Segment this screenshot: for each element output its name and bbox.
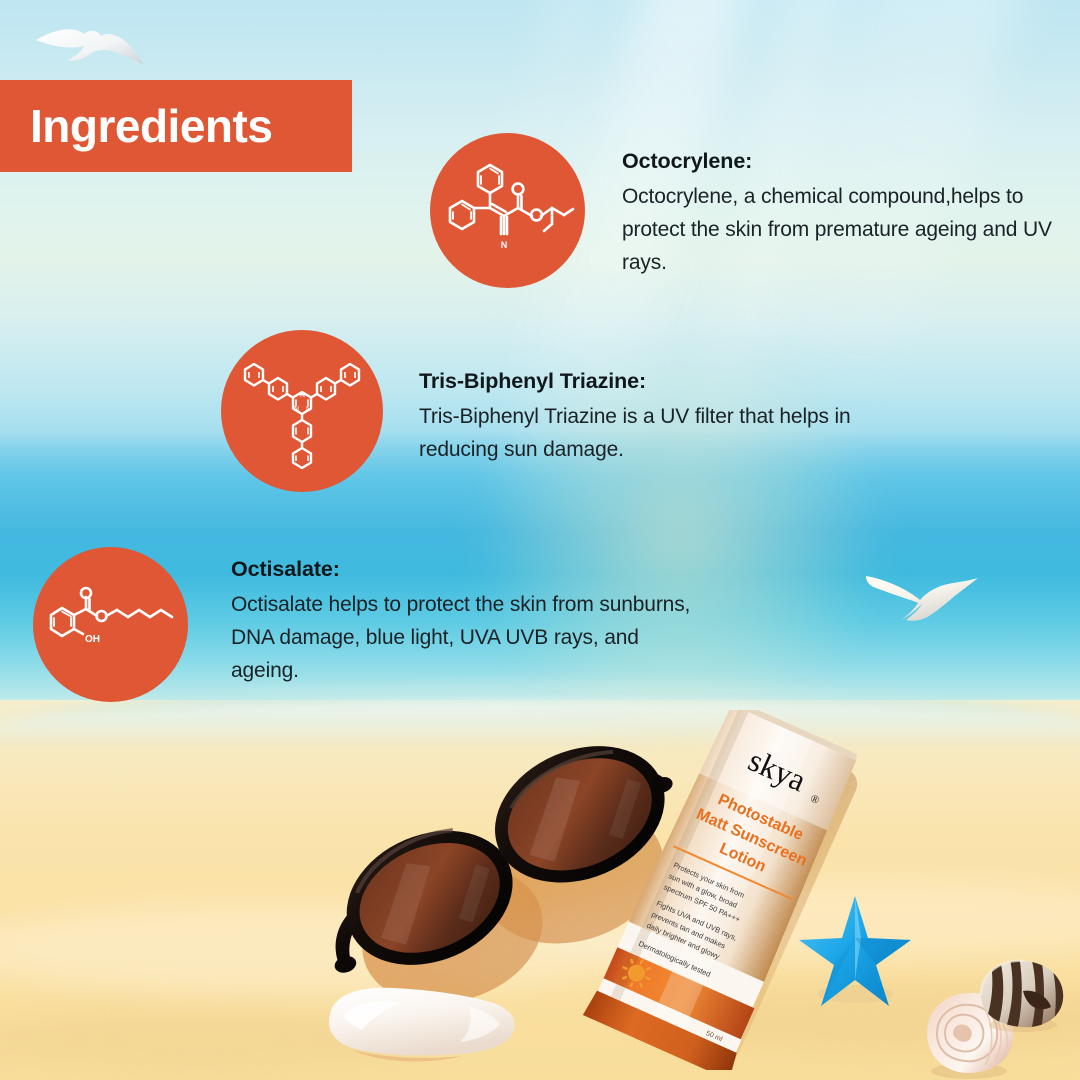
striped-seashell-icon <box>975 955 1070 1033</box>
ingredient-description: Octisalate helps to protect the skin fro… <box>231 588 701 688</box>
octocrylene-molecule-icon: N <box>430 133 585 288</box>
ingredient-name: Octocrylene: <box>622 148 1052 176</box>
ingredient-name: Octisalate: <box>231 556 701 584</box>
tris-biphenyl-triazine-molecule-icon: N N N <box>221 330 383 492</box>
header-banner: Ingredients <box>0 80 352 172</box>
seagull-icon <box>862 560 1000 638</box>
ingredient-text-octocrylene: Octocrylene: Octocrylene, a chemical com… <box>622 148 1052 279</box>
starfish-icon <box>795 890 915 1010</box>
seagull-icon <box>30 18 150 78</box>
page-title: Ingredients <box>30 103 272 149</box>
ingredients-poster: N Octocrylene: Octocrylene, a chemical c… <box>0 0 1080 1080</box>
cream-smear <box>322 972 522 1080</box>
svg-text:N: N <box>501 240 508 250</box>
octisalate-molecule-icon: OH <box>33 547 188 702</box>
svg-text:N: N <box>300 392 305 399</box>
svg-text:OH: OH <box>85 634 100 645</box>
ingredient-text-octisalate: Octisalate: Octisalate helps to protect … <box>231 556 701 687</box>
ingredient-name: Tris-Biphenyl Triazine: <box>419 368 859 396</box>
ingredient-text-tris-biphenyl-triazine: Tris-Biphenyl Triazine: Tris-Biphenyl Tr… <box>419 368 859 466</box>
svg-text:N: N <box>294 406 299 413</box>
ingredient-description: Tris-Biphenyl Triazine is a UV filter th… <box>419 400 859 466</box>
svg-text:N: N <box>306 406 311 413</box>
ingredient-description: Octocrylene, a chemical compound,helps t… <box>622 180 1052 280</box>
